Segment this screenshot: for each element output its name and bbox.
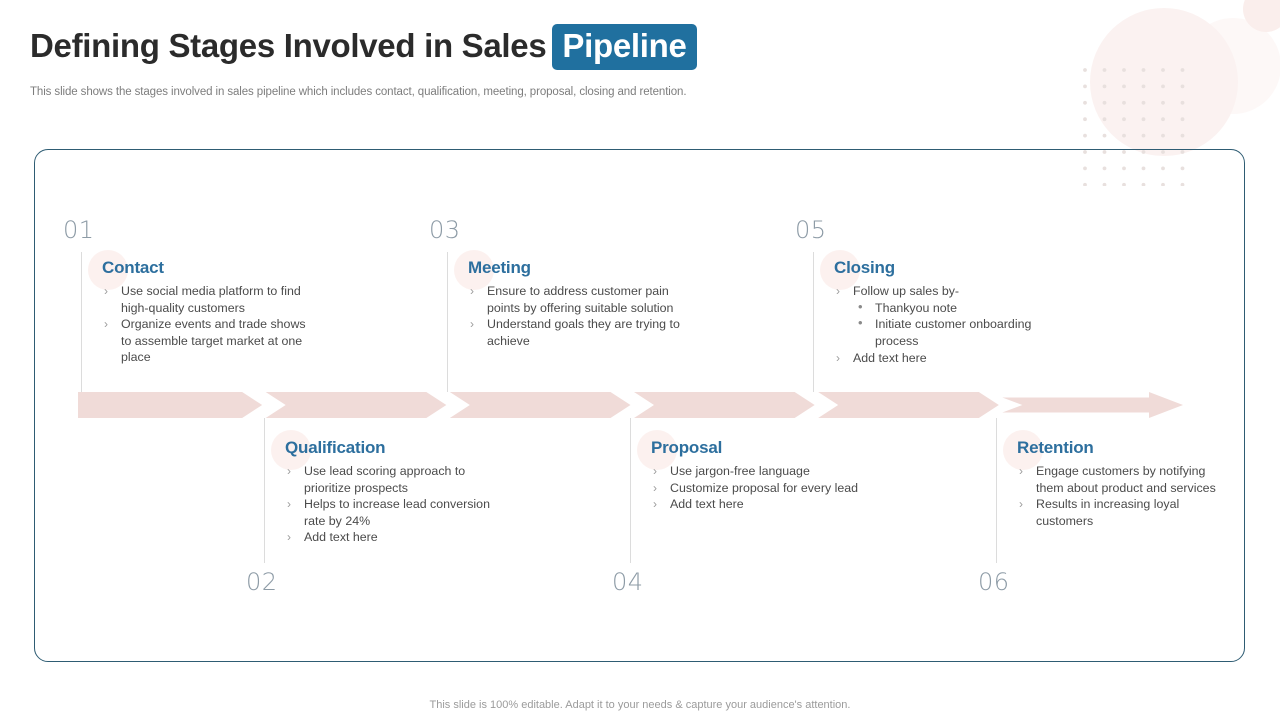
stage-bullet-text: Follow up sales by- [853,284,959,298]
stage-number: 04 [612,568,644,596]
stage-bullet-text: Results in increasing loyal customers [1036,497,1179,528]
chevron-right-icon: › [653,496,657,513]
stage-number: 01 [63,216,95,244]
stage-bullet: ›Engage customers by notifying them abou… [1017,463,1217,496]
stage-bullet-text: Use social media platform to find high-q… [121,284,301,315]
stage-title: Proposal [651,438,863,458]
stage-bullet-text: Add text here [670,497,744,511]
chevron-right-icon: › [287,463,291,480]
stage-bullet-text: Add text here [853,351,927,365]
stage-number: 06 [978,568,1010,596]
stage-content: Qualification›Use lead scoring approach … [285,438,497,546]
stage-bullet-text: Ensure to address customer pain points b… [487,284,673,315]
stage-number: 05 [795,216,827,244]
bullet-dot-icon: • [858,299,863,316]
chevron-right-icon: › [287,496,291,513]
stage-bullet: ›Organize events and trade shows to asse… [102,316,314,366]
stage-title: Qualification [285,438,497,458]
stage-bullet-text: Understand goals they are trying to achi… [487,317,680,348]
footer-note: This slide is 100% editable. Adapt it to… [0,699,1280,711]
stage-bullet-text: Organize events and trade shows to assem… [121,317,306,364]
chevron-right-icon: › [653,463,657,480]
stage-title: Retention [1017,438,1217,458]
stage-content: Meeting›Ensure to address customer pain … [468,258,680,349]
stage-list: Contact›Use social media platform to fin… [0,0,1280,720]
stage-connector-line [81,252,82,392]
stage-bullet: ›Use jargon-free language [651,463,863,480]
stage-bullet-list: ›Engage customers by notifying them abou… [1017,463,1217,529]
stage-bullet-list: ›Ensure to address customer pain points … [468,283,680,349]
stage-subbullet-text: Initiate customer onboarding process [875,317,1031,348]
stage-title: Closing [834,258,1046,278]
chevron-right-icon: › [653,480,657,497]
stage-content: Retention›Engage customers by notifying … [1017,438,1217,529]
stage-subbullet: •Initiate customer onboarding process [853,316,1046,350]
chevron-right-icon: › [1019,463,1023,480]
stage-content: Proposal›Use jargon-free language›Custom… [651,438,863,513]
stage-content: Contact›Use social media platform to fin… [102,258,314,366]
stage-bullet: ›Use social media platform to find high-… [102,283,314,316]
chevron-right-icon: › [1019,496,1023,513]
stage-bullet: ›Add text here [651,496,863,513]
stage-bullet-text: Engage customers by notifying them about… [1036,464,1216,495]
stage-subbullet-text: Thankyou note [875,301,957,315]
stage-title: Contact [102,258,314,278]
stage-title: Meeting [468,258,680,278]
stage-bullet-list: ›Use social media platform to find high-… [102,283,314,366]
stage-connector-line [264,418,265,563]
stage-bullet: ›Helps to increase lead conversion rate … [285,496,497,529]
stage-bullet-text: Use jargon-free language [670,464,810,478]
stage-bullet-text: Add text here [304,530,378,544]
chevron-right-icon: › [836,350,840,367]
stage-bullet-text: Helps to increase lead conversion rate b… [304,497,490,528]
chevron-right-icon: › [104,316,108,333]
stage-bullet: ›Understand goals they are trying to ach… [468,316,680,349]
stage-bullet: ›Ensure to address customer pain points … [468,283,680,316]
stage-bullet-list: ›Follow up sales by-•Thankyou note•Initi… [834,283,1046,367]
stage-bullet-list: ›Use jargon-free language›Customize prop… [651,463,863,513]
stage-number: 02 [246,568,278,596]
chevron-right-icon: › [104,283,108,300]
stage-bullet: ›Follow up sales by-•Thankyou note•Initi… [834,283,1046,350]
stage-subbullet-list: •Thankyou note•Initiate customer onboard… [853,300,1046,350]
stage-bullet: ›Use lead scoring approach to prioritize… [285,463,497,496]
stage-subbullet: •Thankyou note [853,300,1046,317]
stage-connector-line [447,252,448,392]
stage-bullet: ›Add text here [834,350,1046,367]
bullet-dot-icon: • [858,315,863,332]
stage-bullet: ›Results in increasing loyal customers [1017,496,1217,529]
chevron-right-icon: › [470,283,474,300]
stage-number: 03 [429,216,461,244]
chevron-right-icon: › [836,283,840,300]
stage-connector-line [996,418,997,563]
chevron-right-icon: › [470,316,474,333]
chevron-right-icon: › [287,529,291,546]
stage-connector-line [630,418,631,563]
stage-bullet-text: Customize proposal for every lead [670,481,858,495]
stage-content: Closing›Follow up sales by-•Thankyou not… [834,258,1046,367]
stage-bullet-list: ›Use lead scoring approach to prioritize… [285,463,497,546]
stage-bullet: ›Add text here [285,529,497,546]
stage-connector-line [813,252,814,392]
stage-bullet: ›Customize proposal for every lead [651,480,863,497]
stage-bullet-text: Use lead scoring approach to prioritize … [304,464,465,495]
